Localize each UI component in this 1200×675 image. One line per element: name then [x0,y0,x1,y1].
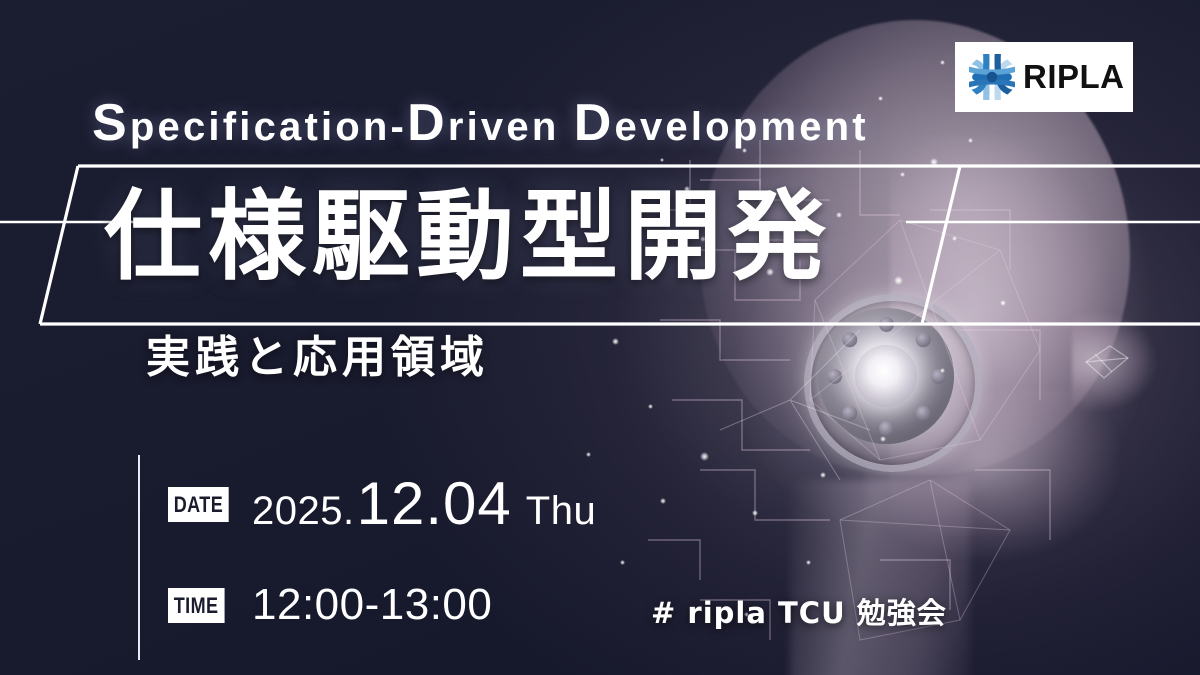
headline-seg: pecification- [130,105,407,149]
ripla-logo-text: RIPLA [1023,58,1125,96]
woven-knot-icon [968,53,1016,101]
headline-seg: evelopment [615,105,869,149]
cog-tooth [827,369,842,384]
headline-seg: D [407,94,448,152]
head-jaw-shape [865,390,1165,620]
date-weekday: Thu [526,491,596,531]
date-year: 2025. [252,491,355,531]
time-row: TIME 12:00-13:00 [168,583,492,627]
date-value: 2025. 12.04 Thu [252,474,596,534]
cog-tooth [915,332,930,347]
head-neck-shape [790,480,970,675]
date-day: 12.04 [357,474,512,534]
time-value: 12:00-13:00 [252,583,492,627]
event-banner: RIPLA Specification-Driven Development 仕… [0,0,1200,675]
date-chip-wrap: DATE [168,487,230,522]
info-divider [138,455,140,660]
date-chip: DATE [168,487,229,522]
cog-tooth [915,405,930,420]
japanese-subtitle: 実践と応用領域 [146,336,489,380]
headline-seg: D [574,94,615,152]
cog-tooth [879,421,894,436]
japanese-title: 仕様駆動型開発 [104,188,832,286]
time-chip-wrap: TIME [168,588,230,623]
english-headline: Specification-Driven Development [92,97,869,149]
headline-seg: S [92,94,130,152]
headline-seg: riven [448,105,574,149]
date-row: DATE 2025. 12.04 Thu [168,474,596,534]
ripla-logo: RIPLA [955,42,1133,112]
time-chip: TIME [168,588,224,623]
hashtag-text: # ripla TCU 勉強会 [651,590,947,632]
cog-tooth [931,369,946,384]
cog-tooth [842,332,857,347]
cog-tooth [842,405,857,420]
